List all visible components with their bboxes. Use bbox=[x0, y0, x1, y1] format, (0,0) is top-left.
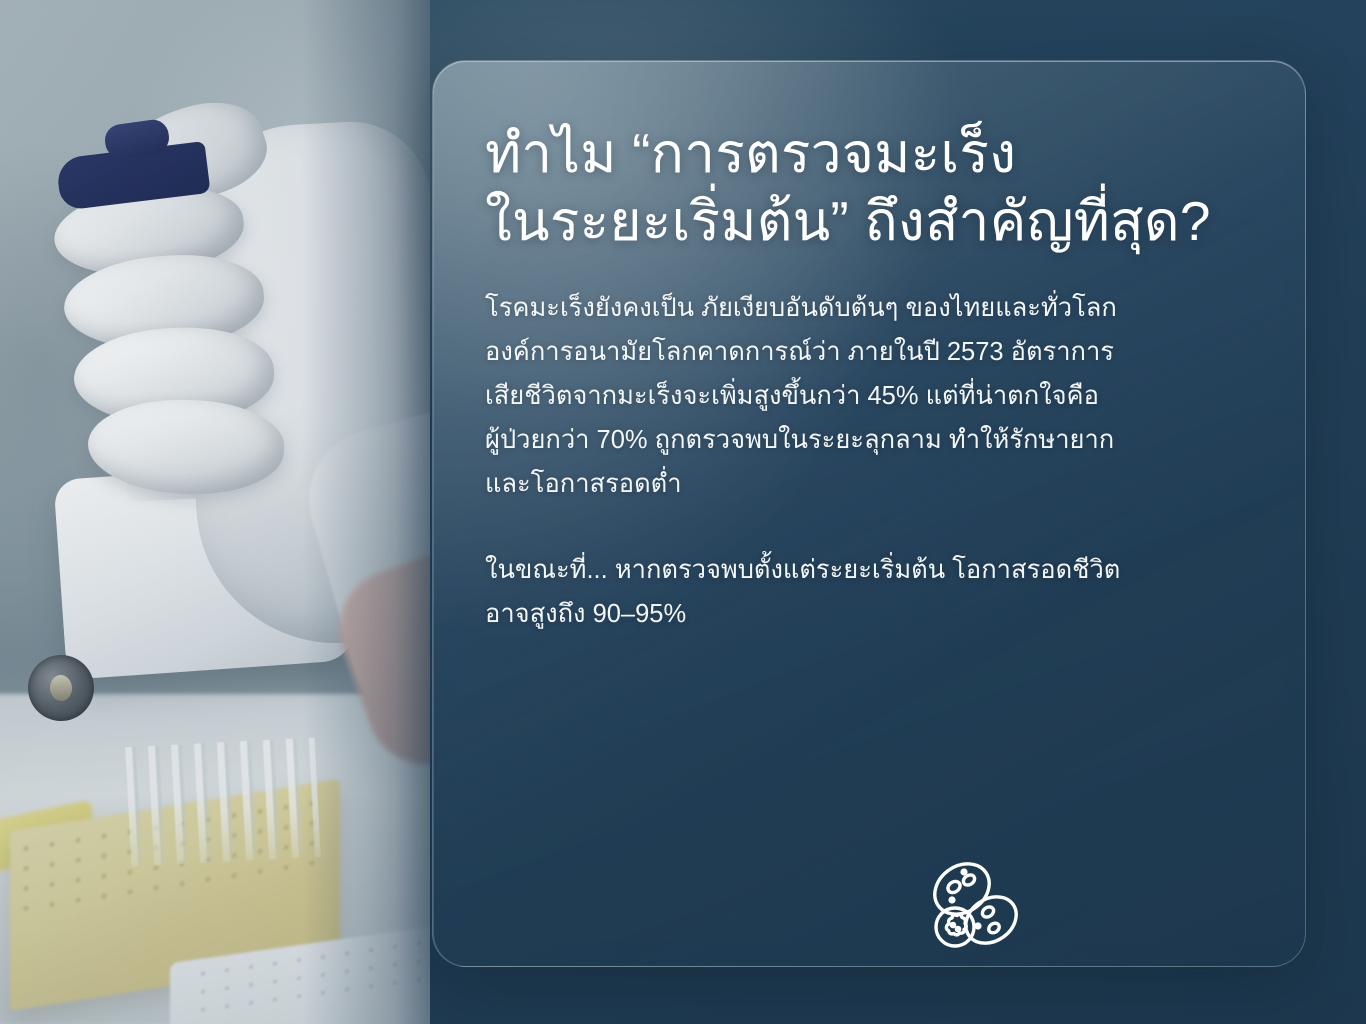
cell-upper-dot-b bbox=[950, 898, 954, 902]
card-content: ทำไม “การตรวจมะเร็ง ในระยะเริ่มต้น” ถึงส… bbox=[485, 119, 1261, 636]
cell-upper-nucleus-a bbox=[946, 879, 962, 895]
body-paragraph-1: โรคมะเร็งยังคงเป็น ภัยเงียบอันดับต้นๆ ขอ… bbox=[485, 287, 1261, 506]
glass-content-card: ทำไม “การตรวจมะเร็ง ในระยะเริ่มต้น” ถึงส… bbox=[432, 60, 1306, 967]
cancer-cells-icon-glyph bbox=[920, 854, 1024, 958]
cancer-cells-icon bbox=[920, 854, 1024, 958]
infographic-slide: ทำไม “การตรวจมะเร็ง ในระยะเริ่มต้น” ถึงส… bbox=[0, 0, 1366, 1024]
cell-lower-nucleus-a bbox=[980, 905, 995, 919]
body-paragraph-2: ในขณะที่... หากตรวจพบตั้งแต่ระยะเริ่มต้น… bbox=[485, 549, 1261, 637]
cell-lower-nucleus-b bbox=[987, 921, 1001, 935]
cell-lower-dot-a bbox=[976, 924, 980, 928]
page-title: ทำไม “การตรวจมะเร็ง ในระยะเริ่มต้น” ถึงส… bbox=[485, 119, 1261, 255]
cell-upper-dot-a bbox=[962, 870, 966, 874]
cell-small-dot-b bbox=[956, 927, 959, 930]
cell-small-dot-a bbox=[951, 923, 954, 926]
